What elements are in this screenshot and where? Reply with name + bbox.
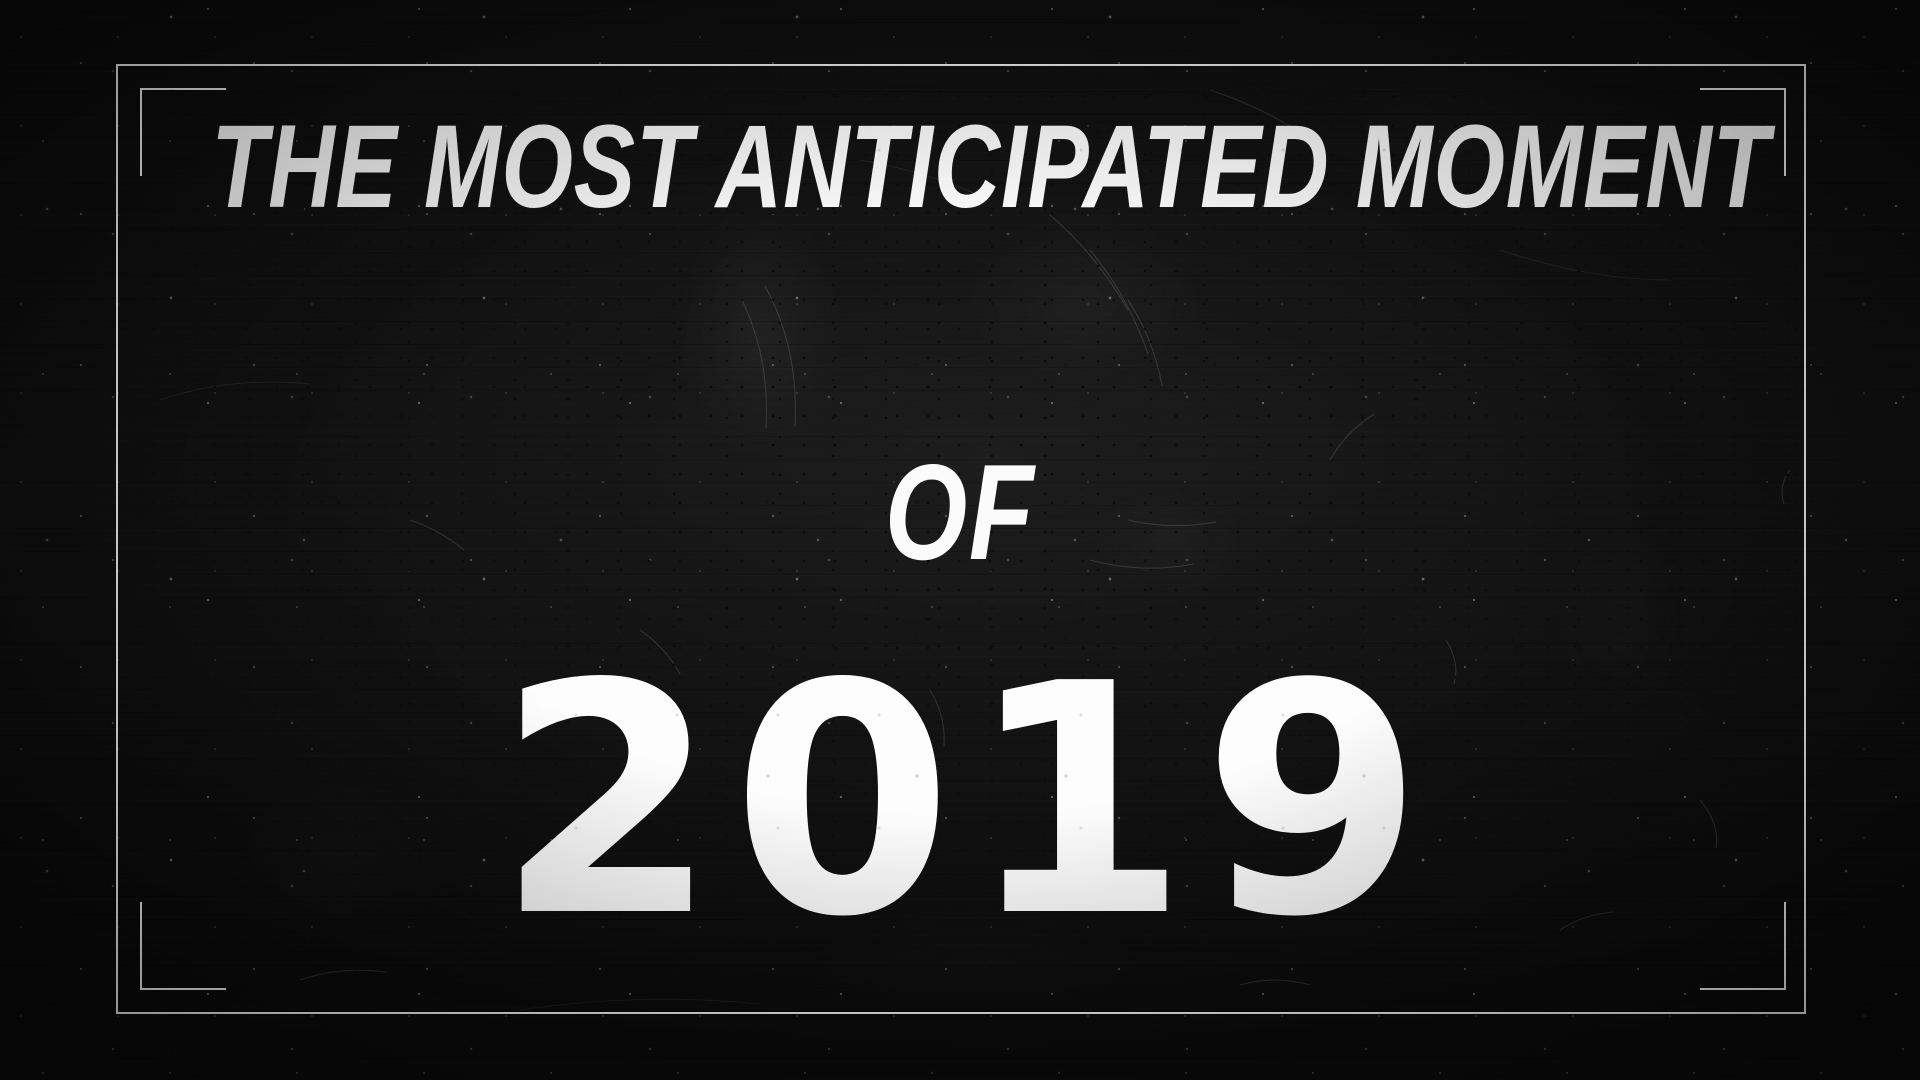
year-text: 2019 — [0, 642, 1920, 960]
poster-canvas: THE MOST ANTICIPATED MOMENT OF 2019 — [0, 0, 1920, 1080]
headline-text: THE MOST ANTICIPATED MOMENT — [211, 108, 1709, 226]
connector-text: OF — [211, 444, 1709, 580]
